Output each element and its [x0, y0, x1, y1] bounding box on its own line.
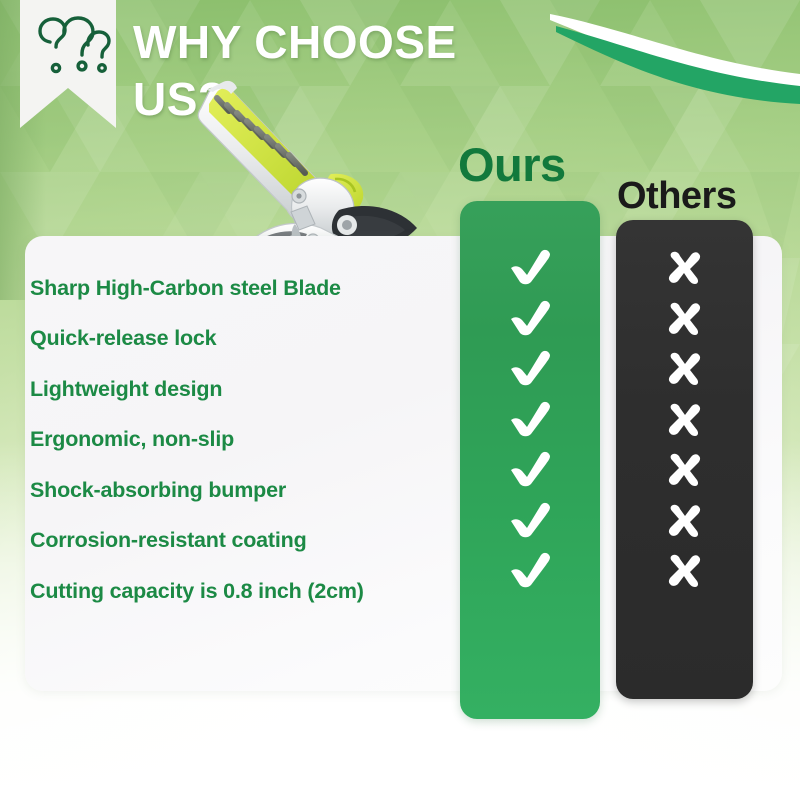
ours-mark-column	[460, 242, 600, 596]
feature-label: Sharp High-Carbon steel Blade	[30, 276, 341, 301]
check-mark-icon	[460, 495, 600, 546]
feature-row: Shock-absorbing bumper	[30, 465, 460, 516]
column-heading-others: Others	[617, 175, 736, 218]
feature-label: Cutting capacity is 0.8 inch (2cm)	[30, 579, 364, 604]
feature-list: Sharp High-Carbon steel Blade Quick-rele…	[30, 263, 460, 617]
cross-mark-icon	[616, 343, 753, 394]
check-mark-icon	[460, 242, 600, 293]
feature-label: Shock-absorbing bumper	[30, 478, 286, 503]
check-mark-icon	[460, 444, 600, 495]
ours-panel	[460, 201, 600, 719]
check-mark-icon	[460, 293, 600, 344]
check-mark-icon	[460, 343, 600, 394]
cross-mark-icon	[616, 242, 753, 293]
feature-row: Cutting capacity is 0.8 inch (2cm)	[30, 566, 460, 617]
feature-row: Quick-release lock	[30, 314, 460, 365]
check-mark-icon	[460, 394, 600, 445]
feature-label: Corrosion-resistant coating	[30, 528, 307, 553]
feature-row: Lightweight design	[30, 364, 460, 415]
feature-label: Quick-release lock	[30, 326, 216, 351]
feature-row: Sharp High-Carbon steel Blade	[30, 263, 460, 314]
swoosh-curve-icon	[540, 0, 800, 130]
cross-mark-icon	[616, 495, 753, 546]
cross-mark-icon	[616, 444, 753, 495]
feature-row: Ergonomic, non-slip	[30, 415, 460, 466]
feature-row: Corrosion-resistant coating	[30, 516, 460, 567]
check-mark-icon	[460, 545, 600, 596]
bookmark-ribbon-icon	[20, 0, 116, 130]
cross-mark-icon	[616, 293, 753, 344]
others-mark-column	[616, 242, 753, 596]
cross-mark-icon	[616, 394, 753, 445]
infographic-canvas: WHY CHOOSE US?	[0, 0, 800, 800]
others-panel	[616, 220, 753, 699]
feature-label: Ergonomic, non-slip	[30, 427, 234, 452]
cross-mark-icon	[616, 545, 753, 596]
column-heading-ours: Ours	[458, 137, 566, 192]
feature-label: Lightweight design	[30, 377, 222, 402]
